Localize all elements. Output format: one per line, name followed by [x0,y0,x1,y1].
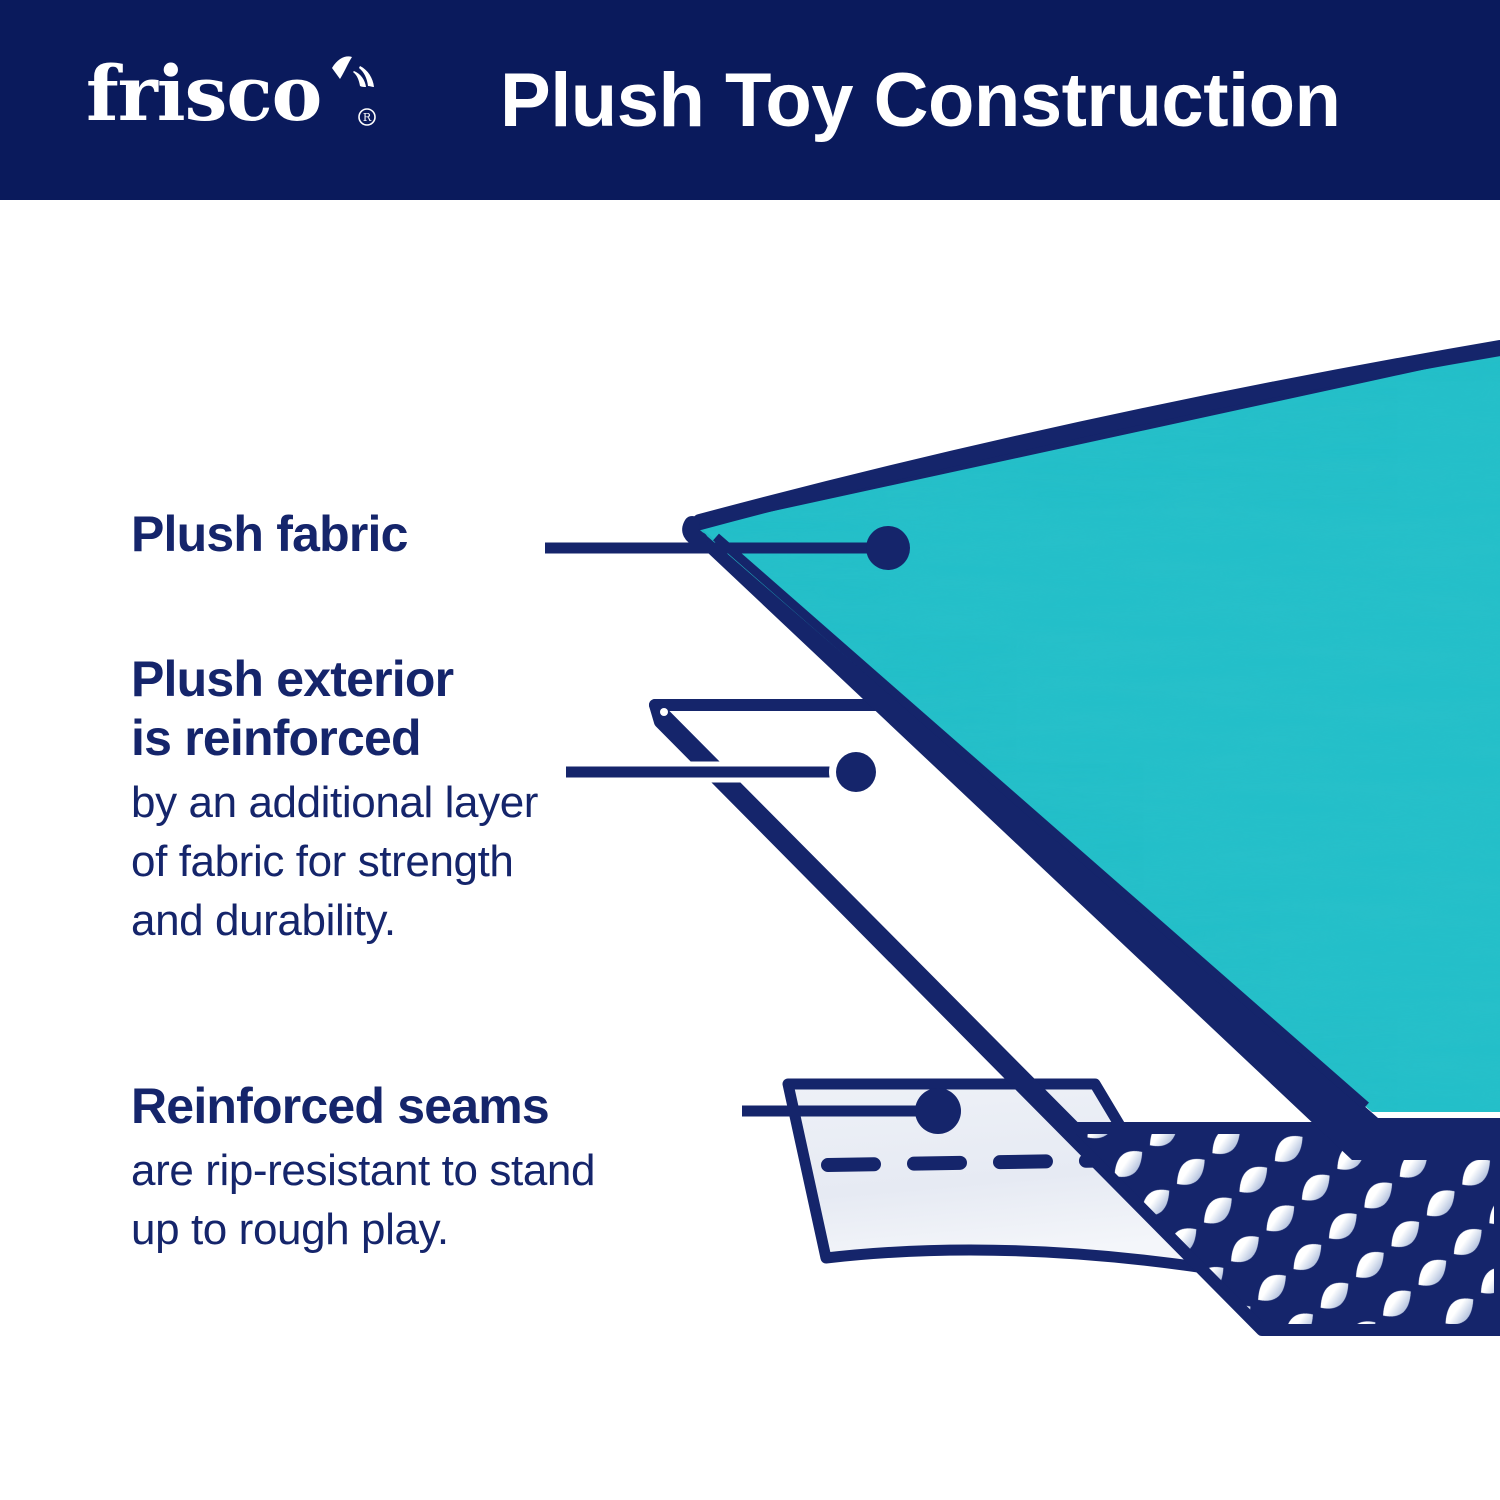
plush-corner-fold [690,524,700,540]
svg-text:R: R [363,111,372,124]
illustration-plush-toy-corner-cutaway [0,200,1500,1500]
leader-dot-filled [836,752,876,792]
page-title: Plush Toy Construction [500,0,1340,200]
page-title-text: Plush Toy Construction [500,57,1340,144]
frisco-logo[interactable]: frisco R [86,44,386,144]
leader-dot-filled [866,526,910,570]
frisco-swoosh-logo-icon: R [86,44,386,144]
leader-dot-filled [915,1088,961,1134]
plush-fur-texture [680,330,1500,1160]
header-bar: frisco R Plush Toy Construction [0,0,1500,200]
plush-fabric-layer [680,330,1500,1160]
infographic-page: frisco R Plush Toy Construction Plush fa… [0,0,1500,1500]
mesh-tip-highlight [660,708,668,716]
